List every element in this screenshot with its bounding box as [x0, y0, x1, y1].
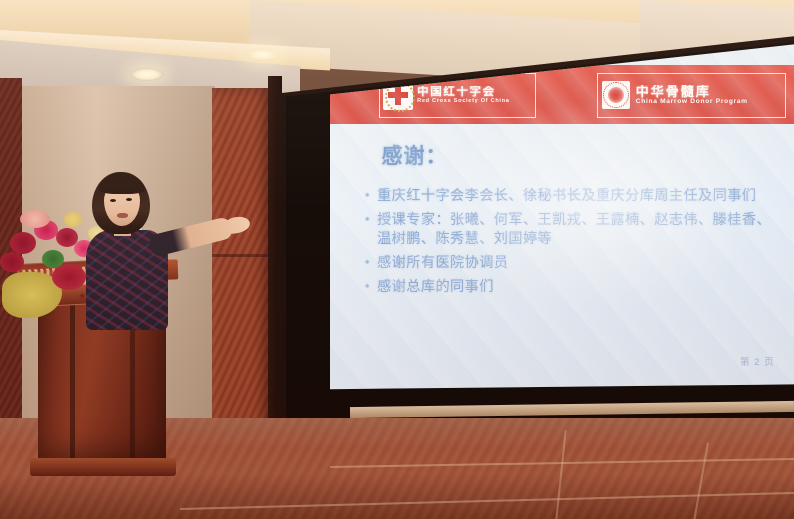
list-item-text: 授课专家：张曦、何军、王凯戎、王露楠、赵志伟、滕桂香、温树鹏、陈秀慧、刘国婷等: [377, 211, 777, 248]
red-cross-name-en: Red Cross Society Of China: [417, 99, 510, 105]
podium-base: [30, 458, 176, 476]
conference-room-photo: 中国红十字会 Red Cross Society Of China 中华骨髓库 …: [0, 0, 794, 519]
list-item: • 感谢所有医院协调员: [365, 254, 777, 272]
bullet-marker-icon: •: [365, 278, 377, 296]
downlight-icon: [246, 48, 280, 61]
speaker-mouth: [117, 213, 128, 218]
slide-title: 感谢：: [381, 140, 447, 170]
slide-page-number: 第 2 页: [740, 354, 775, 368]
slide-header-band: 中国红十字会 Red Cross Society Of China 中华骨髓库 …: [330, 65, 794, 124]
speaker-eye: [126, 198, 132, 201]
downlight-icon: [130, 68, 164, 81]
marrow-donor-name-cn: 中华骨髓库: [636, 85, 748, 99]
bullet-marker-icon: •: [365, 187, 377, 205]
bullet-marker-icon: •: [365, 211, 377, 248]
list-item-text: 重庆红十字会李会长、徐秘书长及重庆分库周主任及同事们: [377, 187, 777, 205]
list-item-text: 感谢所有医院协调员: [377, 254, 777, 272]
list-item-text: 感谢总库的同事们: [377, 278, 777, 296]
marrow-donor-name-en: China Marrow Donor Program: [636, 99, 748, 106]
projected-slide: 中国红十字会 Red Cross Society Of China 中华骨髓库 …: [330, 44, 794, 392]
list-item: • 重庆红十字会李会长、徐秘书长及重庆分库周主任及同事们: [365, 187, 777, 205]
wood-panel-seam: [212, 254, 270, 257]
list-item: • 授课专家：张曦、何军、王凯戎、王露楠、赵志伟、滕桂香、温树鹏、陈秀慧、刘国婷…: [365, 211, 777, 248]
speaker-eye: [110, 199, 116, 202]
red-cross-name-cn: 中国红十字会: [417, 86, 510, 98]
marrow-donor-flower-emblem-icon: [602, 81, 630, 109]
bullet-marker-icon: •: [365, 254, 377, 272]
slide-bullet-list: • 重庆红十字会李会长、徐秘书长及重庆分库周主任及同事们 • 授课专家：张曦、何…: [365, 187, 777, 303]
wood-panel-column: [212, 88, 270, 440]
list-item: • 感谢总库的同事们: [365, 278, 777, 296]
logo-marrow-donor: 中华骨髓库 China Marrow Donor Program: [597, 73, 786, 118]
